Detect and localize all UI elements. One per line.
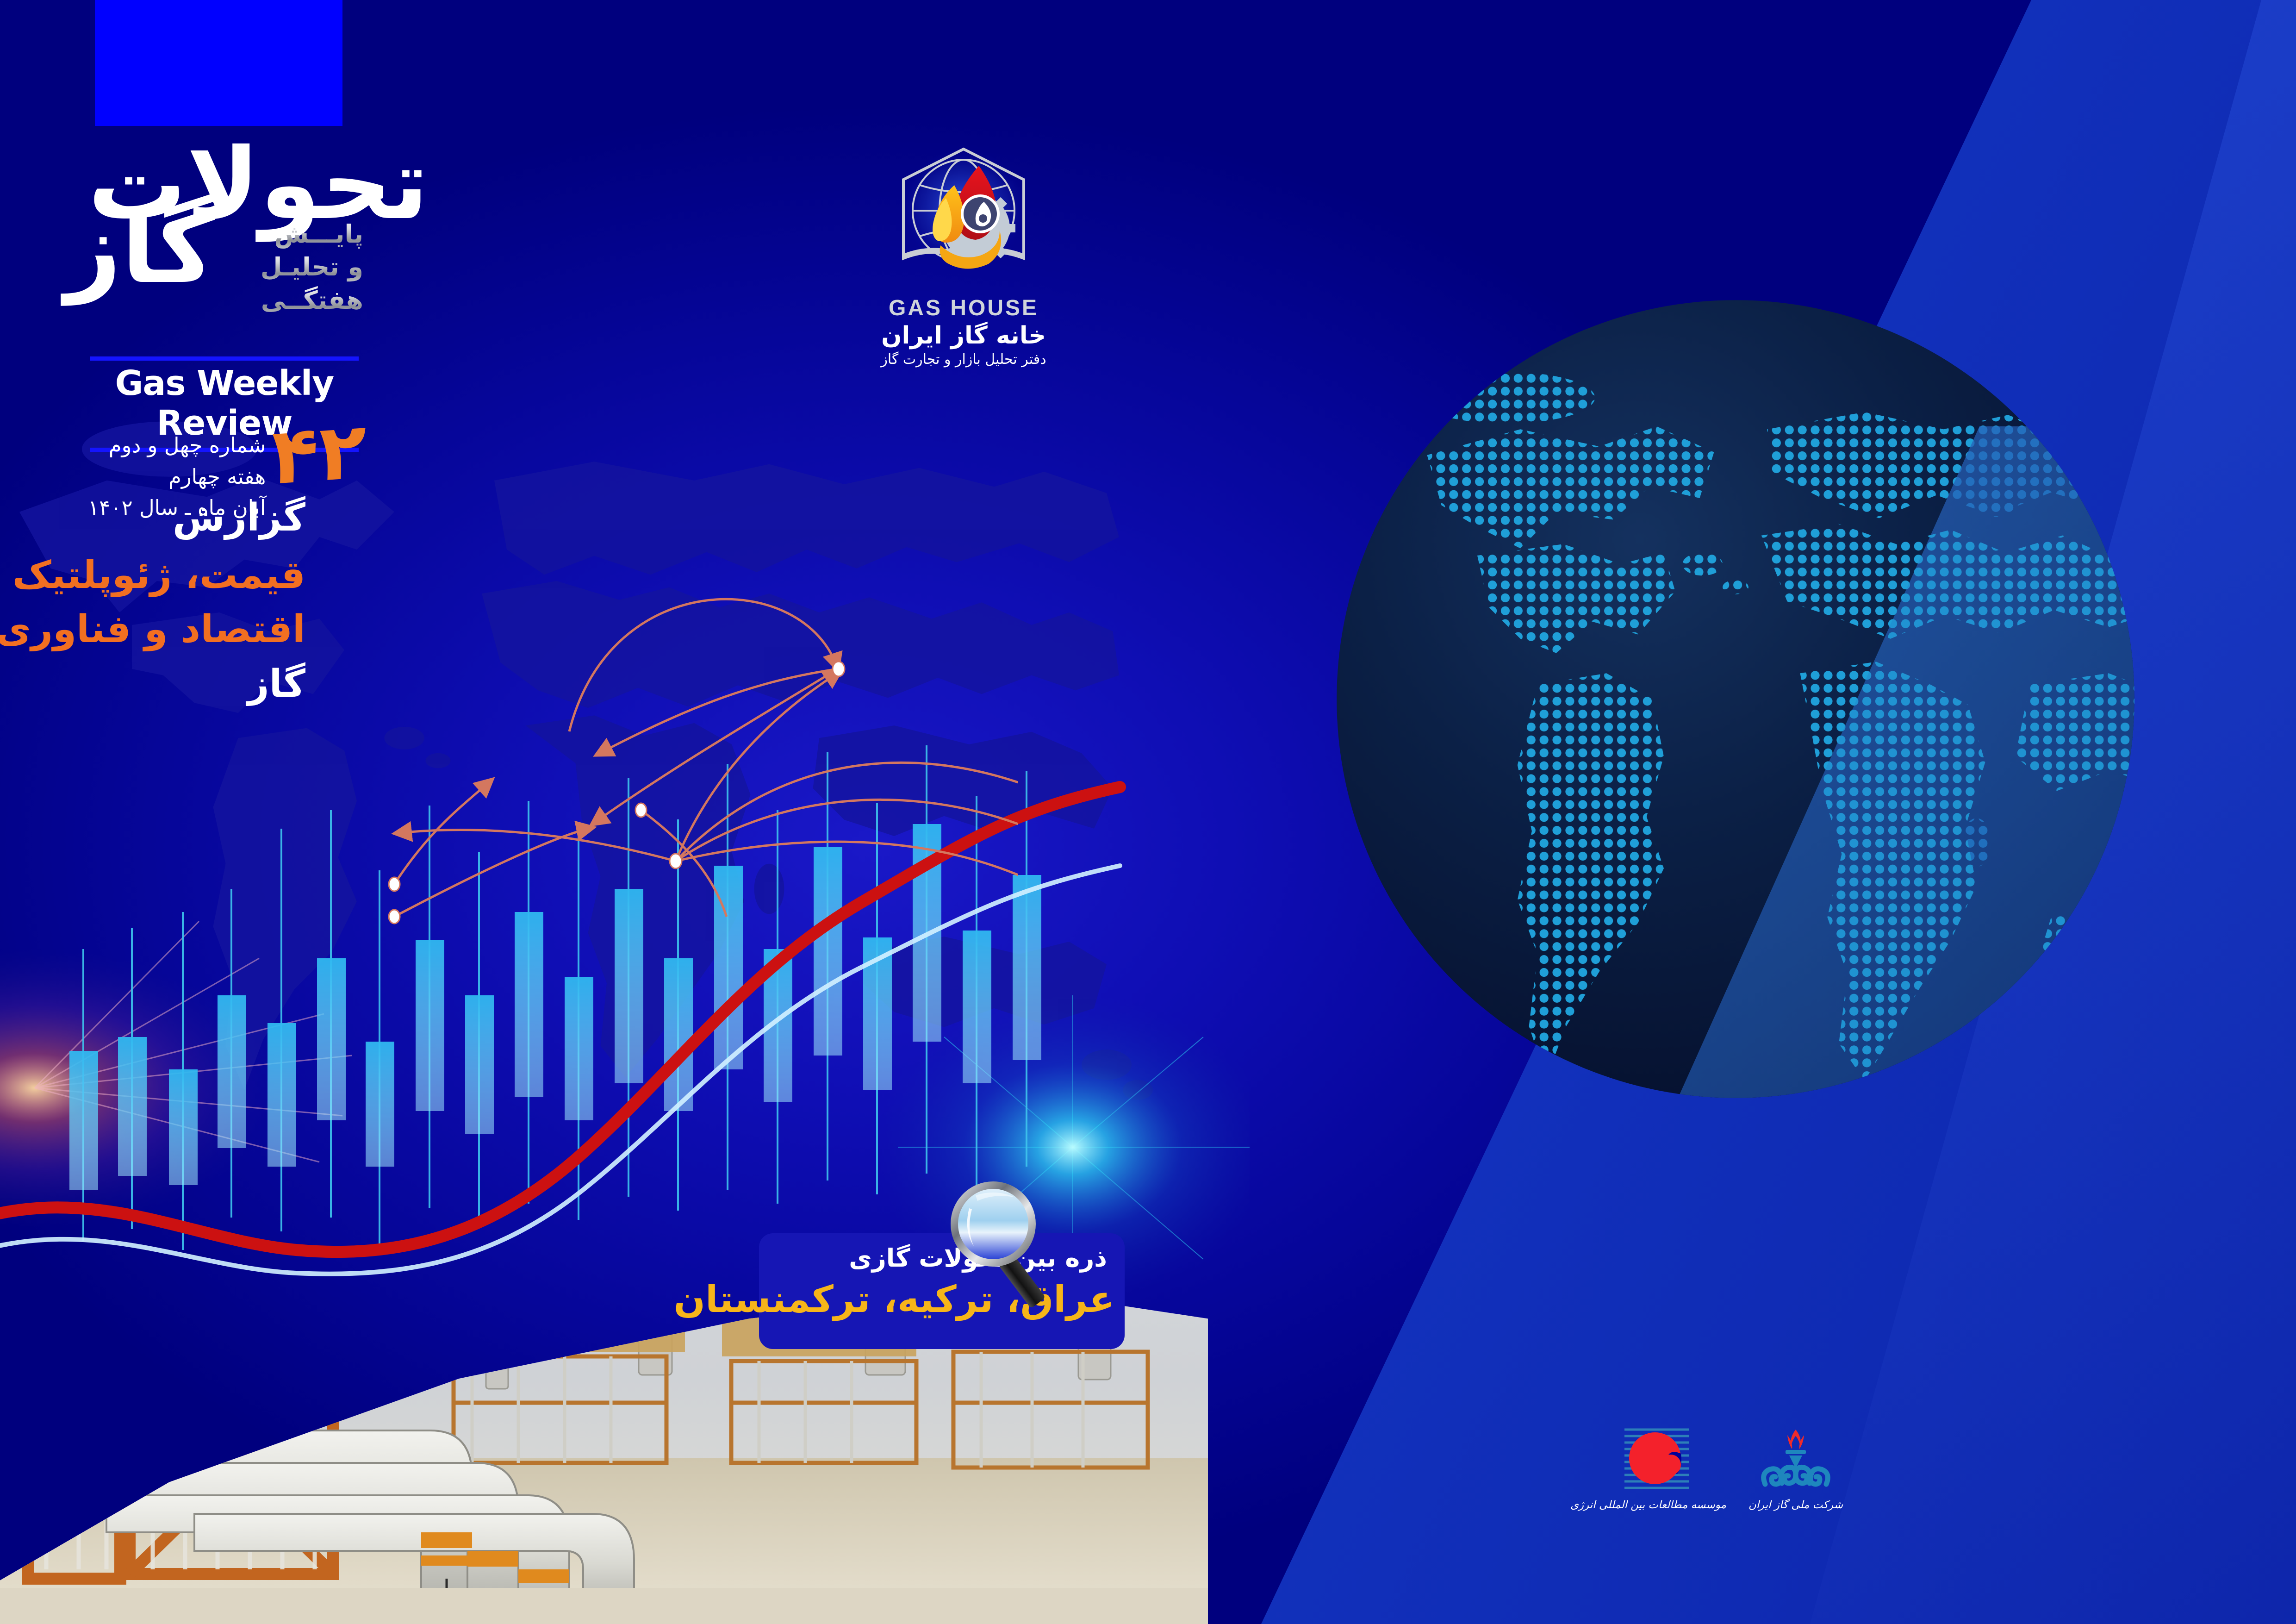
logo-text-fa: خانه گاز ایران xyxy=(866,322,1061,350)
issue-meta-number: شماره چهل و دوم xyxy=(88,430,266,461)
halftone-globe-graphic xyxy=(1305,269,2166,1130)
footer-logo-iies: موسسه مطالعات بین المللی انرژی xyxy=(1587,1426,1726,1511)
headline-line-2: قیمت، ژئوپلتیک xyxy=(46,555,305,596)
iies-energy-institute-logo-icon xyxy=(1623,1426,1691,1494)
gas-house-flame-globe-gear-icon xyxy=(885,139,1042,292)
headline-line-1: گزارش xyxy=(46,498,305,538)
logo-department: دفتر تحلیل بازار و تجارت گاز xyxy=(866,351,1061,368)
footer-logos: موسسه مطالعات بین المللی انرژی شرکت ملی … xyxy=(1587,1426,1884,1574)
footer-logo-nigc: شرکت ملی گاز ایران xyxy=(1726,1426,1865,1511)
cover-headline: گزارش قیمت، ژئوپلتیک اقتصاد و فناوری گاز xyxy=(46,498,305,705)
gas-house-logo: GAS HOUSE خانه گاز ایران دفتر تحلیل بازا… xyxy=(866,139,1061,368)
magnifying-glass-icon xyxy=(945,1176,1056,1315)
issue-number: ۴۲ xyxy=(270,418,367,490)
masthead: تحولات گاز پایـــش و تحلیـل هفتگــی Gas … xyxy=(0,0,463,509)
magazine-subtitle-stack: پایـــش و تحلیـل هفتگــی xyxy=(257,218,363,317)
logo-text-en: GAS HOUSE xyxy=(866,295,1061,321)
footer-logo-caption-nigc: شرکت ملی گاز ایران xyxy=(1726,1499,1865,1511)
global-connection-arcs xyxy=(370,509,1018,926)
subtitle-line-1: پایـــش xyxy=(257,218,363,250)
headline-line-3: اقتصاد و فناوری xyxy=(46,609,305,650)
rule-top xyxy=(90,356,359,361)
subtitle-line-2: و تحلیـل xyxy=(257,250,363,283)
nigc-flame-logo-icon xyxy=(1759,1426,1833,1494)
feature-banner[interactable]: ذره بین تحولات گازی عراق، ترکیه، ترکمنست… xyxy=(759,1233,1125,1349)
footer-logo-caption-iies: موسسه مطالعات بین المللی انرژی xyxy=(1587,1499,1726,1511)
headline-line-4: گاز xyxy=(46,664,305,705)
subtitle-line-3: هفتگــی xyxy=(257,284,363,317)
magazine-cover: تحولات گاز پایـــش و تحلیـل هفتگــی Gas … xyxy=(0,0,2296,1624)
issue-meta-week: هفته چهارم xyxy=(88,461,266,493)
magazine-title-fa-line2: گاز xyxy=(65,199,215,297)
